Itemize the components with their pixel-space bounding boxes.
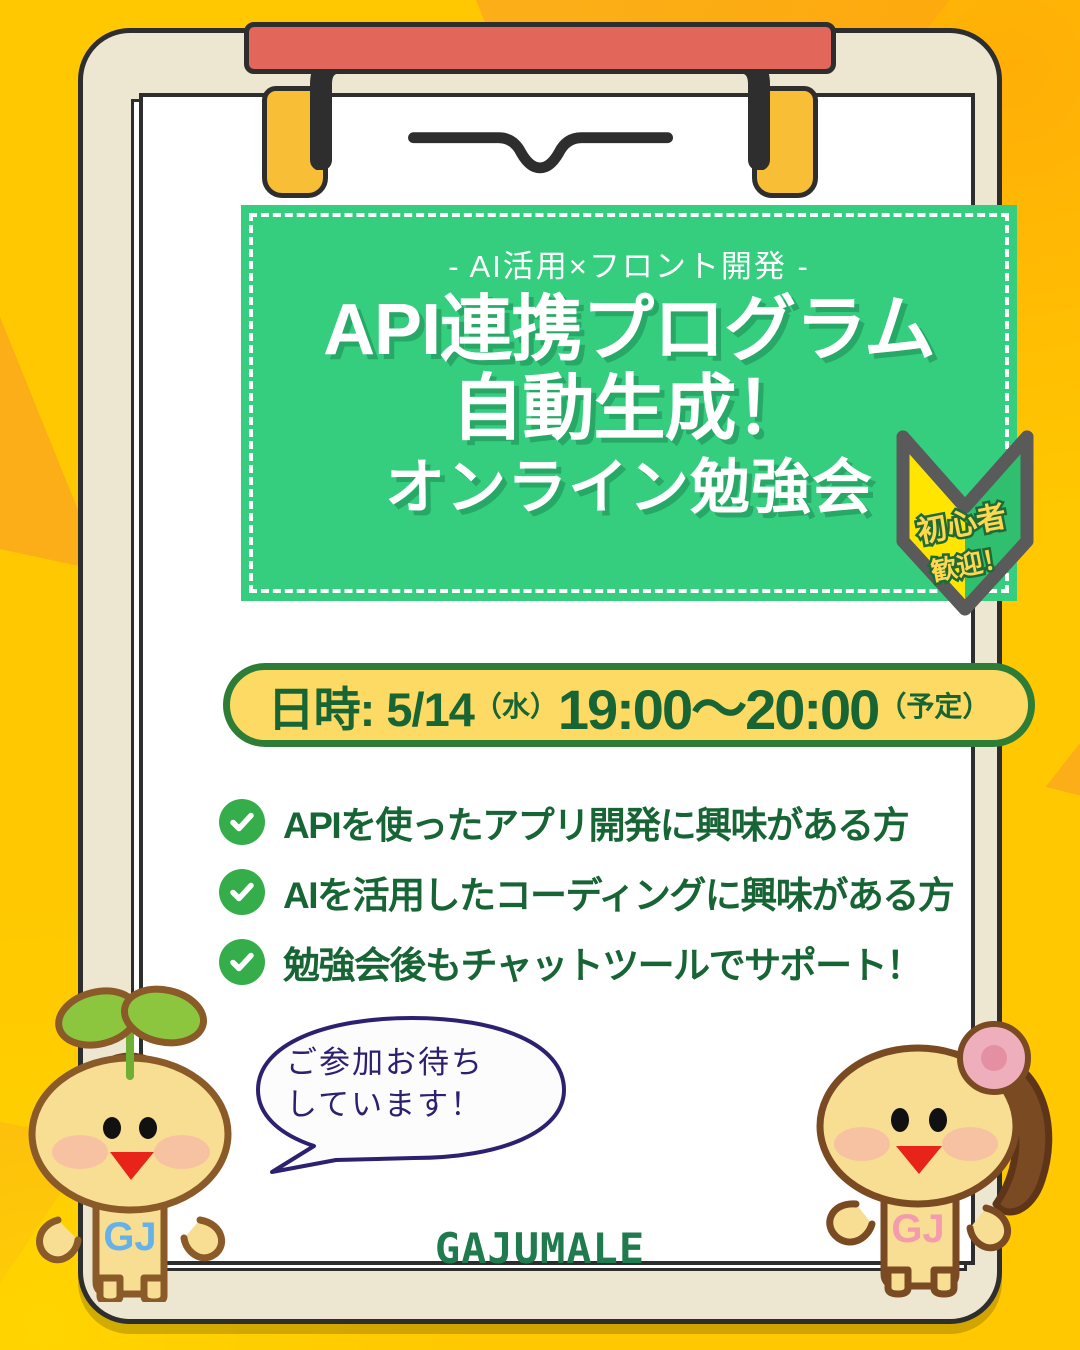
title-line-1: API連携プログラム: [241, 294, 1017, 367]
checklist-item-label: APIを使ったアプリ開発に興味がある方: [283, 795, 908, 849]
date-time: 19:00〜20:00: [558, 665, 878, 746]
title-panel: - AI活用×フロント開発 - API連携プログラム 自動生成！ オンライン勉強…: [241, 205, 1017, 601]
poster-root: - AI活用×フロント開発 - API連携プログラム 自動生成！ オンライン勉強…: [0, 0, 1080, 1350]
sprout-mascot-left: GJ: [18, 982, 268, 1302]
mascot-chest-logo-left: GJ: [103, 1215, 156, 1259]
speech-bubble-text: ご参加お待ち しています！: [286, 1042, 544, 1126]
gajumale-logo: GAJUMALE: [435, 1224, 645, 1273]
speech-line-1: ご参加お待ち: [286, 1042, 544, 1084]
date-banner: 日時: 5/14 （水） 19:00〜20:00 （予定）: [223, 663, 1035, 747]
checklist-item: APIを使ったアプリ開発に興味がある方: [219, 795, 1049, 849]
checklist-item: AIを活用したコーディングに興味がある方: [219, 865, 1049, 919]
check-circle-icon: [219, 939, 265, 985]
flower-hairclip: [960, 1024, 1028, 1092]
date-note: （予定）: [878, 685, 990, 725]
check-circle-icon: [219, 869, 265, 915]
check-circle-icon: [219, 799, 265, 845]
wakaba-beginner-badge: 初心者 歓迎！: [889, 421, 1041, 617]
clip-top-bar: [244, 22, 836, 74]
subtitle: - AI活用×フロント開発 -: [241, 241, 1017, 286]
speech-line-2: しています！: [286, 1084, 544, 1126]
mascot-chest-logo-right: GJ: [891, 1207, 944, 1251]
date-prefix: 日時: 5/14: [268, 671, 474, 740]
sprout-mascot-right: GJ: [810, 976, 1070, 1306]
clip-wire-bottom: [285, 128, 795, 198]
checklist-item-label: AIを活用したコーディングに興味がある方: [283, 865, 953, 919]
speech-bubble: ご参加お待ち しています！: [252, 1014, 570, 1174]
checklist: APIを使ったアプリ開発に興味がある方 AIを活用したコーディングに興味がある方…: [219, 795, 1049, 1005]
date-weekday: （水）: [474, 685, 558, 725]
